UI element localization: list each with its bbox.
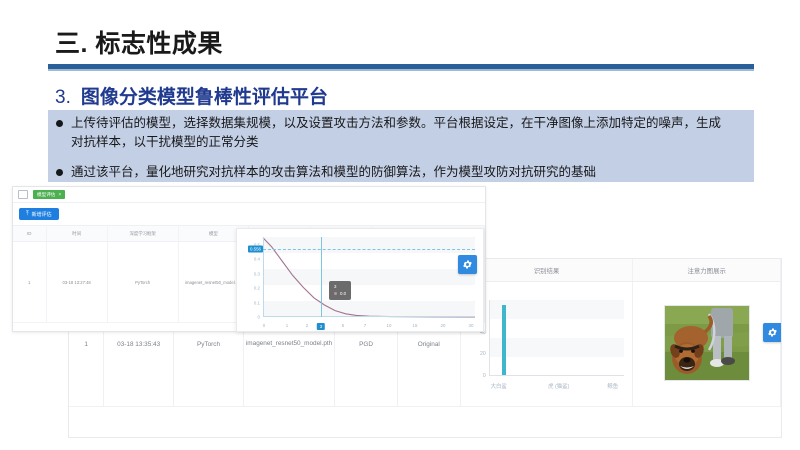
grid-band bbox=[489, 357, 625, 376]
series-swatch-icon bbox=[334, 292, 337, 295]
x-axis-line bbox=[489, 375, 625, 376]
tooltip-row: 0.0 bbox=[334, 291, 346, 298]
crosshair-line bbox=[321, 237, 322, 317]
upload-icon: ⤒ bbox=[26, 211, 29, 217]
column-header-id: ID bbox=[13, 226, 46, 242]
bullet-item: 上传待评估的模型，选择数据集规模，以及设置攻击方法和参数。平台根据设定，在干净图… bbox=[56, 114, 731, 153]
section-heading: 3.图像分类模型鲁棒性评估平台 bbox=[55, 82, 328, 109]
line-chart-panel[interactable]: 0 0.1 0.2 0.3 0.4 0.5 0.556 3 3 0.0 0 1 … bbox=[236, 228, 484, 332]
column-header-time: 时间 bbox=[46, 226, 107, 242]
dog-photo[interactable] bbox=[664, 305, 750, 381]
close-icon[interactable]: × bbox=[58, 192, 61, 198]
x-axis-line bbox=[263, 316, 475, 317]
gear-icon[interactable] bbox=[763, 323, 782, 342]
dog-photo-art bbox=[665, 306, 749, 380]
x-tick-label: 0 bbox=[263, 323, 265, 328]
bar-chart-lower: 0 20 40 60 大白鲨 虎 (猫鲨) 鲸鱼 bbox=[463, 296, 631, 392]
window-icon bbox=[18, 190, 28, 199]
cell-attention-map[interactable] bbox=[633, 282, 781, 407]
x-tick-label: 2 bbox=[306, 323, 308, 328]
cell-time: 03-18 13:27:48 bbox=[46, 242, 107, 323]
y-axis-line bbox=[489, 300, 490, 376]
grid-band bbox=[489, 338, 625, 357]
tab-label: 模型评估 bbox=[37, 192, 55, 198]
x-tick-label: 30 bbox=[469, 323, 474, 328]
value-label: 0.556 bbox=[248, 246, 263, 253]
column-header-attention: 注意力图展示 bbox=[633, 259, 781, 282]
page-title: 三. 标志性成果 bbox=[55, 24, 223, 60]
y-tick-label: 0.1 bbox=[254, 300, 260, 305]
y-tick-label: 20 bbox=[480, 351, 486, 357]
y-tick-label: 0 bbox=[258, 315, 260, 320]
bar-0 bbox=[502, 305, 506, 376]
bullet-dot-icon bbox=[56, 169, 63, 176]
section-title: 图像分类模型鲁棒性评估平台 bbox=[81, 87, 328, 108]
x-tick-label: 鲸鱼 bbox=[607, 382, 618, 390]
bullet-text: 上传待评估的模型，选择数据集规模，以及设置攻击方法和参数。平台根据设定，在干净图… bbox=[71, 114, 731, 153]
x-tick-label: 大白鲨 bbox=[491, 382, 507, 390]
crosshair-x-label: 3 bbox=[317, 323, 325, 330]
tooltip-title: 3 bbox=[334, 284, 346, 291]
title-divider bbox=[48, 64, 754, 69]
cell-result-chart[interactable]: 0 20 40 60 大白鲨 虎 (猫鲨) 鲸鱼 bbox=[460, 282, 633, 407]
add-evaluation-label: 新增评估 bbox=[32, 211, 52, 218]
x-tick-label: 1 bbox=[286, 323, 288, 328]
y-tick-label: 0.2 bbox=[254, 286, 260, 291]
cell-framework: PyTorch bbox=[107, 242, 178, 323]
grid-band bbox=[489, 300, 625, 319]
y-tick-label: 0.4 bbox=[254, 257, 260, 262]
gear-icon[interactable] bbox=[458, 255, 477, 274]
x-tick-label: 10 bbox=[387, 323, 392, 328]
cell-id: 1 bbox=[13, 242, 46, 323]
bullet-dot-icon bbox=[56, 120, 63, 127]
attention-thumbnail-wrap bbox=[664, 305, 750, 381]
grid-band bbox=[489, 319, 625, 338]
bullet-text: 通过该平台，量化地研究对抗样本的攻击算法和模型的防御算法，作为模型攻防对抗研究的… bbox=[71, 163, 731, 182]
y-tick-label: 0.3 bbox=[254, 271, 260, 276]
gear-glyph bbox=[462, 259, 473, 270]
x-tick-label: 5 bbox=[342, 323, 344, 328]
gear-glyph bbox=[767, 327, 778, 338]
value-guide-line bbox=[263, 249, 475, 250]
x-tick-label: 20 bbox=[441, 323, 446, 328]
x-tick-label: 虎 (猫鲨) bbox=[548, 382, 569, 390]
section-number: 3. bbox=[55, 87, 71, 108]
column-header-framework: 深度学习框架 bbox=[107, 226, 178, 242]
x-tick-label: 15 bbox=[413, 323, 418, 328]
column-header-result: 识别结果 bbox=[460, 259, 633, 282]
x-tick-label: 7 bbox=[364, 323, 366, 328]
chart-tooltip: 3 0.0 bbox=[329, 281, 351, 300]
y-tick-label: 0 bbox=[483, 373, 486, 379]
add-evaluation-button[interactable]: ⤒ 新增评估 bbox=[19, 208, 59, 220]
bar-chart-plot: 0 20 40 60 bbox=[489, 300, 625, 376]
tab-model-evaluation[interactable]: 模型评估 × bbox=[33, 190, 65, 199]
toolbar: ⤒ 新增评估 bbox=[13, 203, 485, 225]
slide-canvas: 三. 标志性成果 3.图像分类模型鲁棒性评估平台 上传待评估的模型，选择数据集规… bbox=[0, 0, 800, 450]
bullet-item: 通过该平台，量化地研究对抗样本的攻击算法和模型的防御算法，作为模型攻防对抗研究的… bbox=[56, 163, 731, 182]
tab-bar: 模型评估 × bbox=[13, 187, 485, 203]
tooltip-value: 0.0 bbox=[340, 291, 346, 296]
